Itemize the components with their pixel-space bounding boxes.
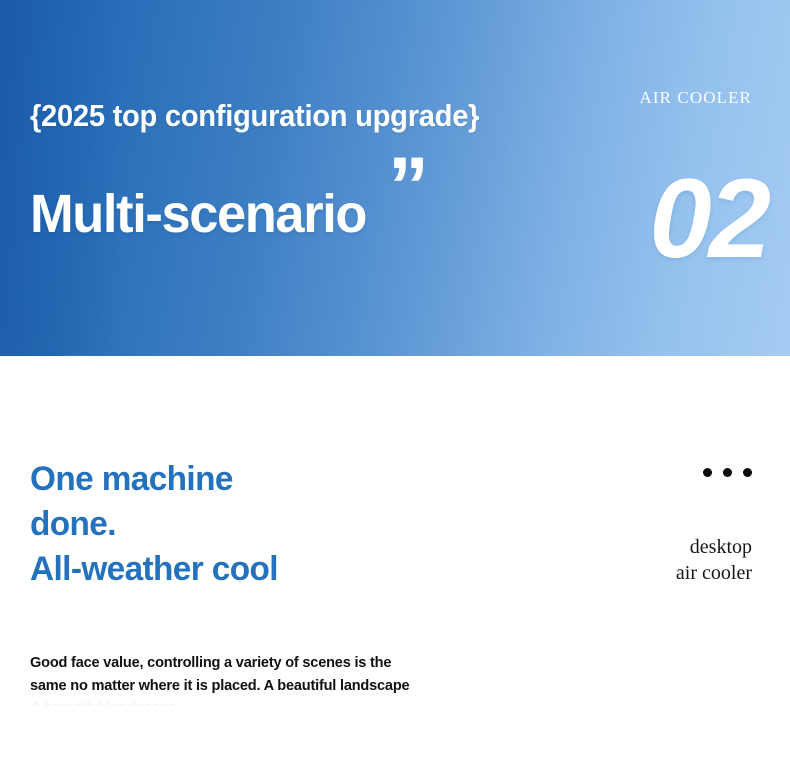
promo-slide: {2025 top configuration upgrade} AIR COO… [0,0,790,761]
brand-mark-label: AIR COOLER [639,88,752,108]
header-banner: {2025 top configuration upgrade} AIR COO… [0,0,790,356]
dot-icon [703,468,712,477]
content-area: One machine done. All-weather cool deskt… [0,356,790,761]
slide-number-label: 02 [649,163,768,275]
product-type-label: desktop air cooler [676,535,752,586]
content-body-copy-clipped: A beautiful landscape [30,697,554,706]
banner-headline: Multi-scenario [30,187,366,241]
content-body-copy: Good face value, controlling a variety o… [30,652,554,698]
three-dots-icon [703,468,752,477]
dot-icon [723,468,732,477]
banner-edge-shade [0,0,120,356]
content-sub-headline: One machine done. All-weather cool [30,457,278,592]
quotation-mark-icon: ” [388,146,427,228]
banner-eyebrow-text: {2025 top configuration upgrade} [30,98,479,134]
dot-icon [743,468,752,477]
